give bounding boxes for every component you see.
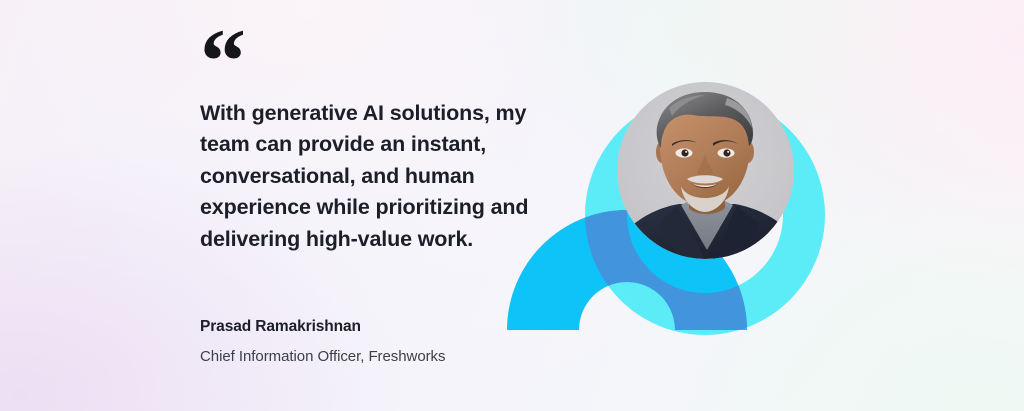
portrait-photo — [617, 82, 794, 259]
graphic-composition — [470, 0, 890, 411]
testimonial-banner: “ With generative AI solutions, my team … — [0, 0, 1024, 411]
portrait-avatar — [617, 82, 794, 259]
